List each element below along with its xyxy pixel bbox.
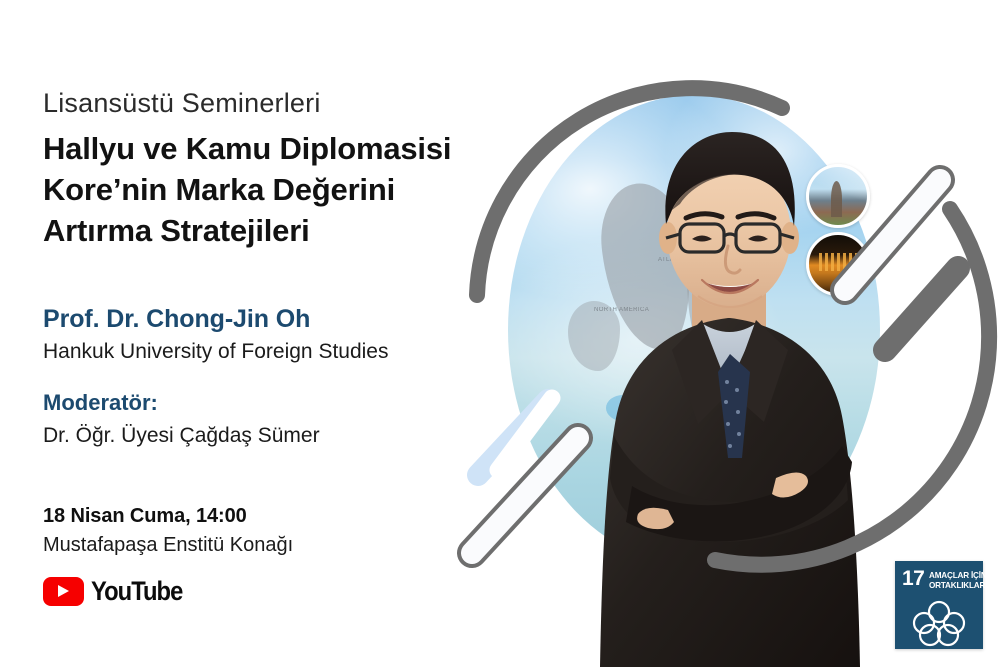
sdg-title: AMAÇLAR İÇİN ORTAKLIKLAR	[929, 570, 989, 590]
moderator-label: Moderatör:	[43, 388, 513, 418]
sdg-number: 17	[902, 570, 924, 588]
event-details: 18 Nisan Cuma, 14:00 Mustafapaşa Enstitü…	[43, 503, 513, 559]
moderator-name: Dr. Öğr. Üyesi Çağdaş Sümer	[43, 421, 513, 451]
sdg17-interlocking-circles-icon	[912, 599, 966, 647]
decor-bar-gray	[885, 268, 958, 350]
event-datetime: 18 Nisan Cuma, 14:00	[43, 503, 513, 530]
speaker-block: Prof. Dr. Chong-Jin Oh Hankuk University…	[43, 303, 513, 451]
seminar-poster: ATLANTIC OCEAN NORTH AMERICA EUROPE AFRI…	[0, 0, 1000, 667]
sdg-17-badge: 17 AMAÇLAR İÇİN ORTAKLIKLAR	[895, 561, 983, 649]
title-line: Hallyu ve Kamu Diplomasisi	[43, 128, 523, 169]
title-line: Artırma Stratejileri	[43, 210, 523, 251]
youtube-play-icon	[43, 577, 84, 606]
event-venue: Mustafapaşa Enstitü Konağı	[43, 531, 513, 559]
speaker-portrait-photo	[580, 106, 880, 667]
text-column: Lisansüstü Seminerleri Hallyu ve Kamu Di…	[43, 0, 513, 667]
youtube-logo[interactable]: YouTube	[43, 577, 195, 606]
speaker-name: Prof. Dr. Chong-Jin Oh	[43, 303, 513, 335]
sdg-title-line-2: ORTAKLIKLAR	[929, 581, 987, 591]
youtube-wordmark: YouTube	[91, 577, 182, 606]
sdg-badge-header: 17 AMAÇLAR İÇİN ORTAKLIKLAR	[895, 561, 983, 590]
page-title: Hallyu ve Kamu Diplomasisi Kore’nin Mark…	[43, 128, 523, 251]
series-eyebrow: Lisansüstü Seminerleri	[43, 88, 321, 119]
title-line: Kore’nin Marka Değerini	[43, 169, 523, 210]
speaker-affiliation: Hankuk University of Foreign Studies	[43, 337, 513, 367]
